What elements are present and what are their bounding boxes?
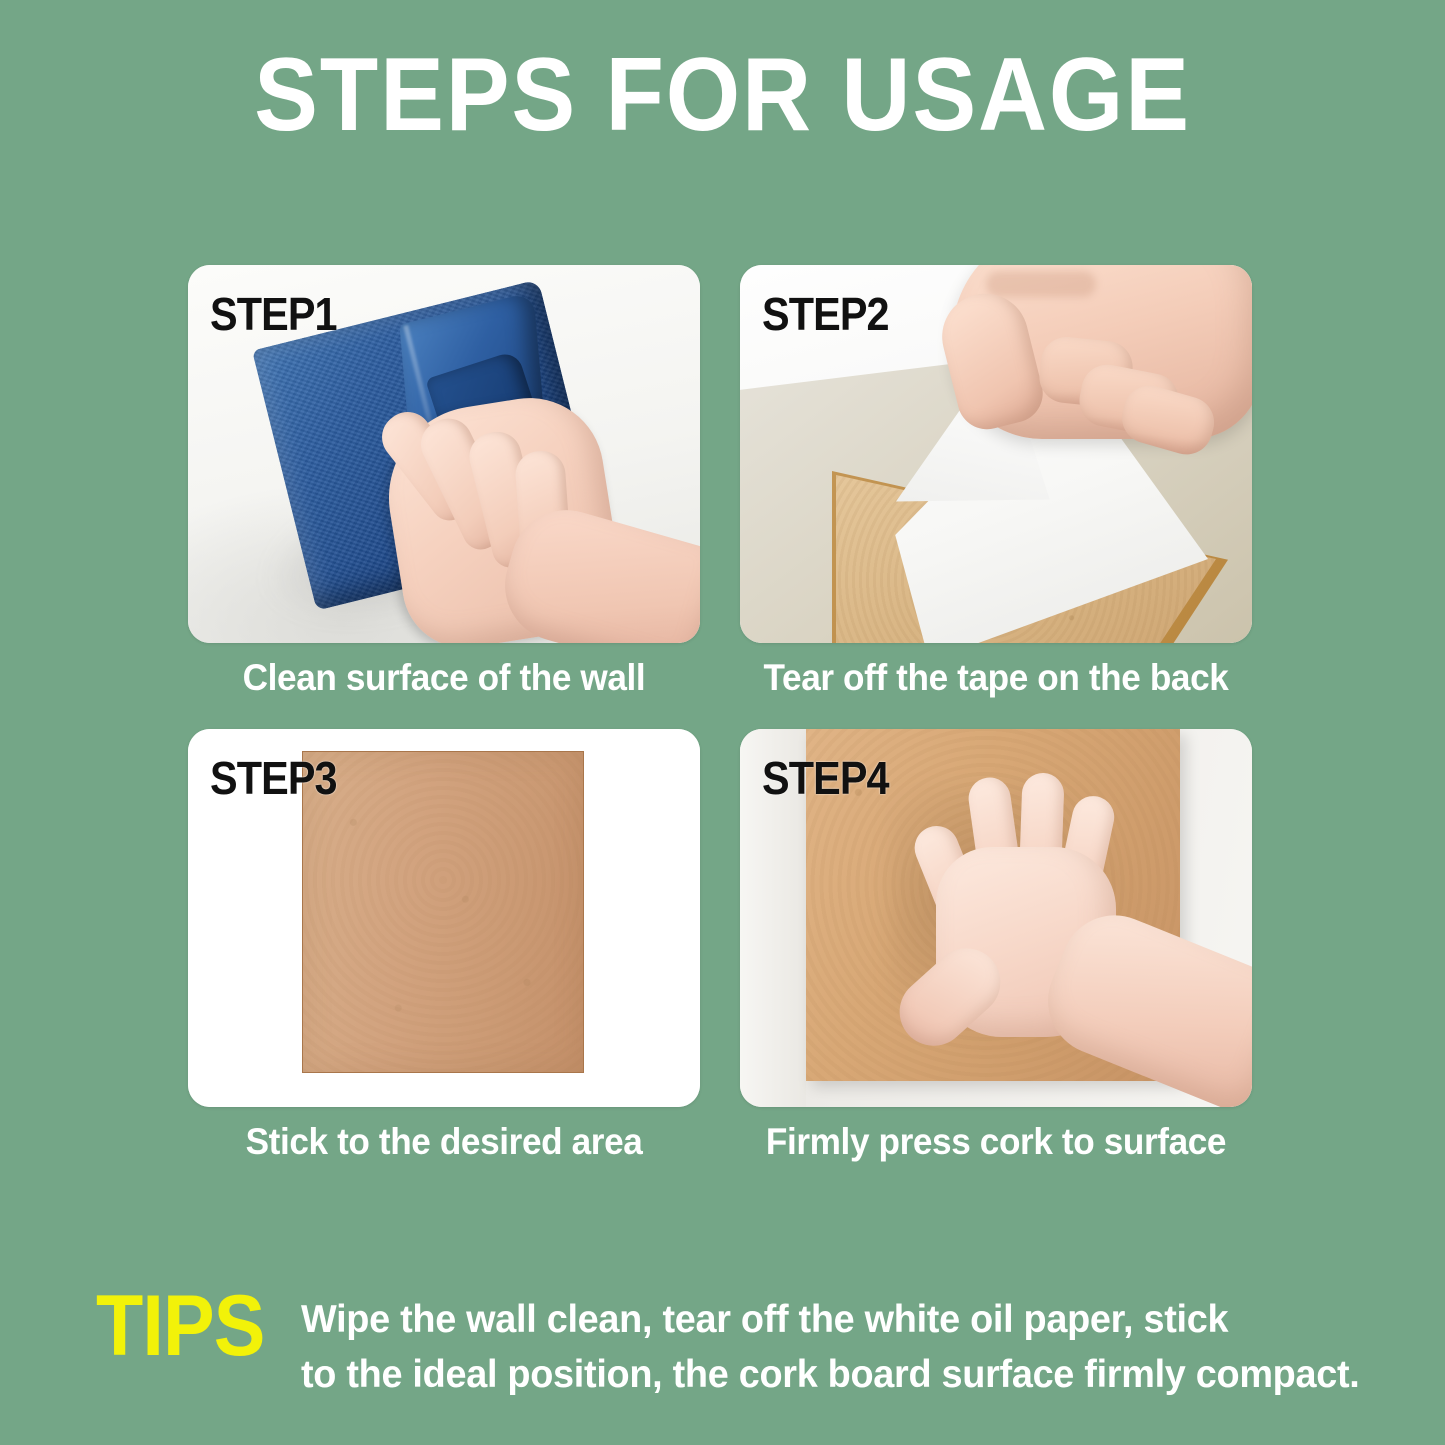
step-caption-1: Clean surface of the wall (201, 657, 687, 699)
step-caption-4: Firmly press cork to surface (753, 1121, 1239, 1163)
steps-grid: STEP1 Clean surface of the wall STEP2 (188, 265, 1252, 1163)
step-label-4: STEP4 (762, 751, 889, 805)
step-caption-3: Stick to the desired area (201, 1121, 687, 1163)
step-cell-4: STEP4 Firmly press cork to surface (740, 729, 1252, 1163)
step-card-4[interactable]: STEP4 (740, 729, 1252, 1107)
tips-text: Wipe the wall clean, tear off the white … (301, 1292, 1360, 1403)
tips-line-1: Wipe the wall clean, tear off the white … (301, 1292, 1360, 1347)
step-label-3: STEP3 (210, 751, 337, 805)
tips-label: TIPS (96, 1286, 264, 1368)
step-card-2[interactable]: STEP2 (740, 265, 1252, 643)
cork-tile-icon (302, 751, 584, 1073)
step-card-1[interactable]: STEP1 (188, 265, 700, 643)
step-cell-3: STEP3 Stick to the desired area (188, 729, 700, 1163)
page-title: STEPS FOR USAGE (58, 36, 1387, 156)
step-label-2: STEP2 (762, 287, 889, 341)
step-card-3[interactable]: STEP3 (188, 729, 700, 1107)
step-cell-2: STEP2 Tear off the tape on the back (740, 265, 1252, 699)
step-label-1: STEP1 (210, 287, 337, 341)
step-caption-2: Tear off the tape on the back (753, 657, 1239, 699)
tips-line-2: to the ideal position, the cork board su… (301, 1347, 1360, 1402)
tips-section: TIPS Wipe the wall clean, tear off the w… (96, 1292, 1366, 1403)
step-cell-1: STEP1 Clean surface of the wall (188, 265, 700, 699)
knuckle-shadow-icon (986, 271, 1096, 297)
